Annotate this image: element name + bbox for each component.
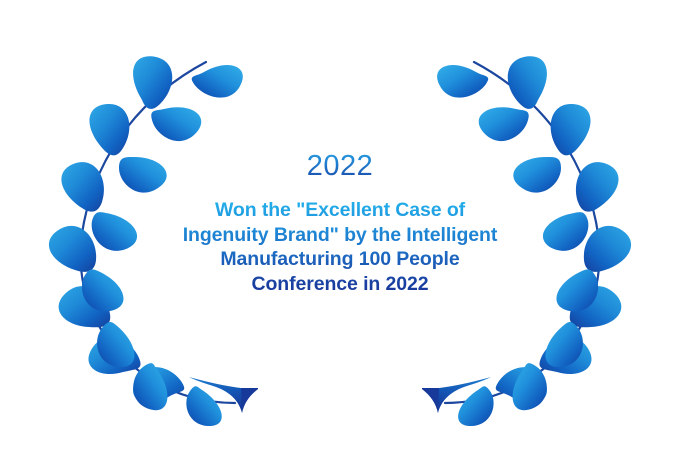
laurel-branch-left — [49, 56, 258, 426]
laurel-wreath — [0, 0, 680, 465]
laurel-branch-right — [422, 56, 631, 426]
award-badge: 2022 Won the "Excellent Case of Ingenuit… — [0, 0, 680, 465]
